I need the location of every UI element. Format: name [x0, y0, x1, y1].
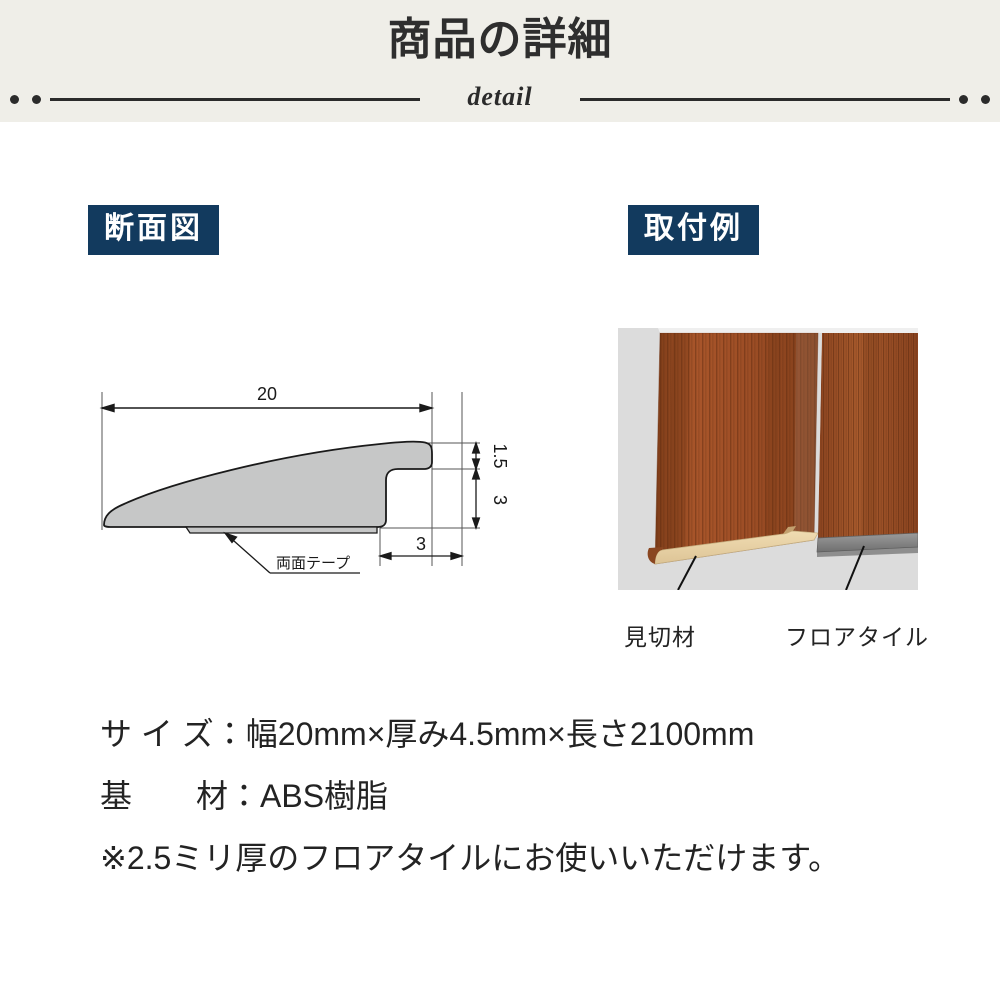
dimension-height-1-5 [473, 443, 480, 469]
dimension-label-step-width: 3 [416, 534, 426, 554]
section-tag-install-example: 取付例 [628, 205, 759, 255]
product-detail-page: 商品の詳細 detail 断面図 取付例 [0, 0, 1000, 1000]
dimension-label-height-total: 3 [490, 495, 510, 505]
cross-section-drawing: 20 1.5 3 [80, 370, 560, 600]
photo-label-group: 見切材 フロアタイル [600, 596, 1000, 656]
spec-material: 基 材：ABS樹脂 [100, 780, 960, 812]
double-sided-tape-strip [186, 527, 377, 533]
spec-size: サ イ ズ：幅20mm×厚み4.5mm×長さ2100mm [100, 718, 960, 750]
profile-outline [104, 442, 432, 527]
header-script-word: detail [0, 82, 1000, 112]
install-example-photo [618, 328, 918, 590]
dimension-height-3 [473, 469, 480, 528]
dimension-label-height-upper: 1.5 [490, 443, 510, 468]
dimension-label-width: 20 [257, 384, 277, 404]
spec-note: ※2.5ミリ厚のフロアタイルにお使いいただけます。 [100, 842, 960, 874]
callout-label-double-sided-tape: 両面テープ [276, 555, 350, 572]
section-tag-cross-section: 断面図 [88, 205, 219, 255]
photo-label-floor-tile: フロアタイル [785, 618, 929, 652]
page-title: 商品の詳細 [0, 14, 1000, 67]
spec-list: サ イ ズ：幅20mm×厚み4.5mm×長さ2100mm 基 材：ABS樹脂 ※… [100, 718, 960, 874]
dimension-width-20 [102, 404, 432, 411]
photo-top-highlight [658, 328, 918, 333]
photo-label-trim: 見切材 [624, 618, 696, 652]
